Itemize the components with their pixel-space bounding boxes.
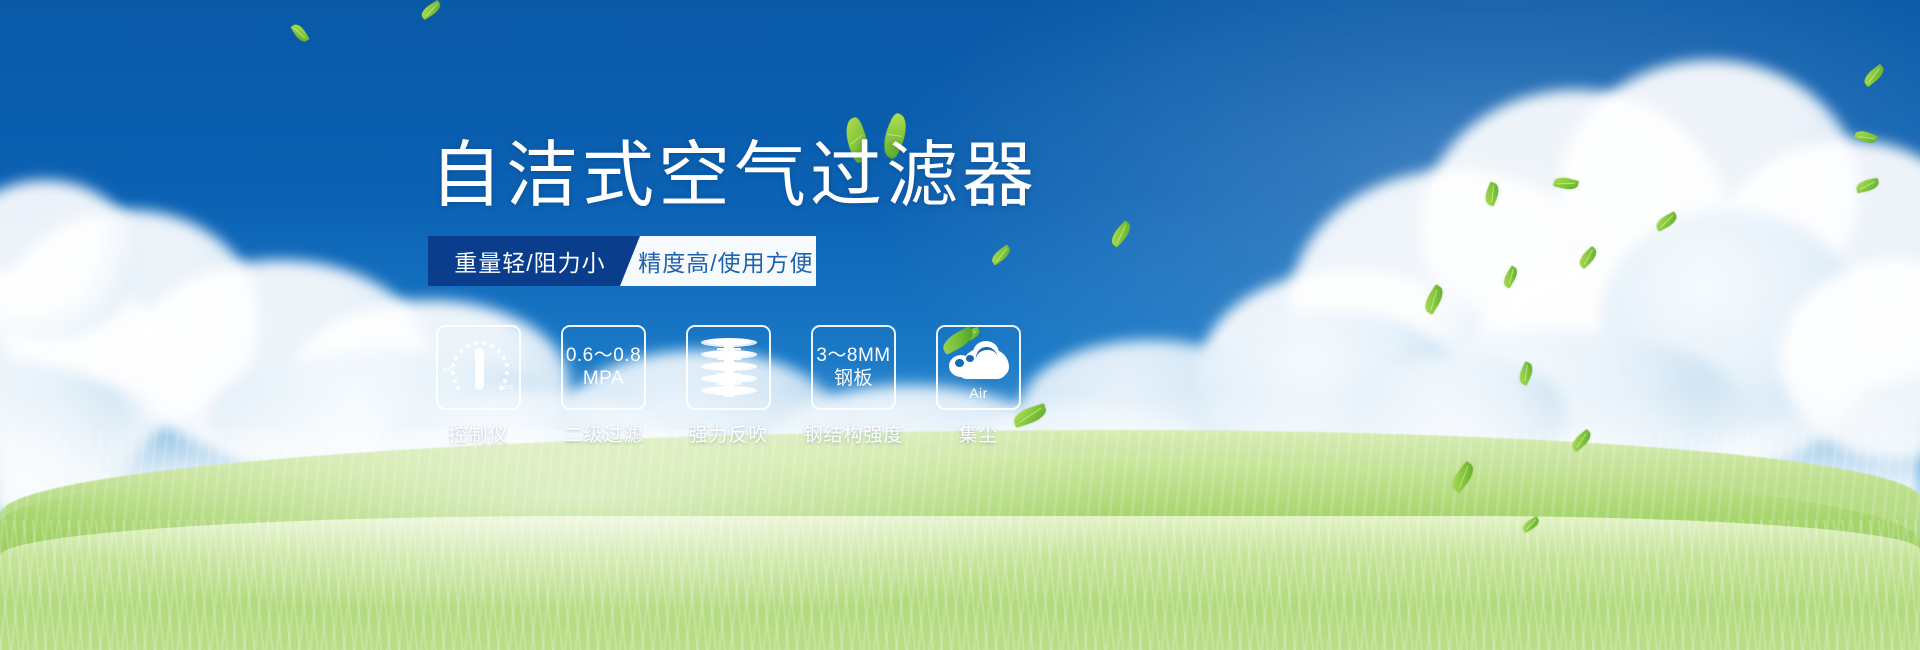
pressure-unit: MPA — [566, 368, 641, 390]
feature-icon-box: 0.6～0.8 MPA — [561, 325, 646, 410]
product-banner: 自洁式空气过滤器 重量轻/阻力小 精度高/使用方便 — [0, 0, 1920, 650]
tagline-tab-primary[interactable]: 重量轻/阻力小 — [428, 236, 640, 286]
pressure-value: 0.6～0.8 — [566, 345, 641, 367]
pressure-text-icon: 0.6～0.8 MPA — [566, 345, 641, 389]
feature-caption: 强力反吹 — [688, 420, 768, 447]
gauge-needle-icon — [475, 348, 484, 390]
feature-caption: 控制仪 — [448, 420, 508, 447]
feature-icon-row: NO OFF 控制仪 0.6～0.8 MPA 二级过滤 — [430, 325, 1027, 447]
page-title: 自洁式空气过滤器 — [430, 140, 1038, 212]
steel-thickness: 3～8MM — [816, 345, 890, 367]
air-label: Air — [943, 385, 1015, 401]
feature-icon-box — [686, 325, 771, 410]
air-cloud-icon: Air — [943, 337, 1015, 399]
banner-content: 自洁式空气过滤器 重量轻/阻力小 精度高/使用方便 — [0, 0, 1920, 650]
feature-item-dust-collection[interactable]: Air 集尘 — [930, 325, 1027, 447]
feature-caption: 二级过滤 — [563, 420, 643, 447]
feature-icon-box: 3～8MM 钢板 — [811, 325, 896, 410]
tagline-tab-secondary[interactable]: 精度高/使用方便 — [620, 236, 816, 286]
gauge-label-no: NO — [443, 367, 455, 374]
feature-item-two-stage-filter[interactable]: 0.6～0.8 MPA 二级过滤 — [555, 325, 652, 447]
feature-item-back-blow[interactable]: 强力反吹 — [680, 325, 777, 447]
feature-icon-box: Air — [936, 325, 1021, 410]
feature-item-steel-strength[interactable]: 3～8MM 钢板 钢结构强度 — [805, 325, 902, 447]
feature-tagline-tabs: 重量轻/阻力小 精度高/使用方便 — [428, 236, 816, 286]
gauge-icon: NO OFF — [444, 335, 514, 401]
steel-text-icon: 3～8MM 钢板 — [816, 345, 890, 389]
feature-item-controller[interactable]: NO OFF 控制仪 — [430, 325, 527, 447]
steel-material: 钢板 — [816, 368, 890, 390]
feature-caption: 钢结构强度 — [804, 420, 904, 447]
feature-icon-box: NO OFF — [436, 325, 521, 410]
coil-icon — [701, 337, 757, 399]
feature-caption: 集尘 — [958, 420, 998, 447]
gauge-label-off: OFF — [498, 385, 514, 392]
